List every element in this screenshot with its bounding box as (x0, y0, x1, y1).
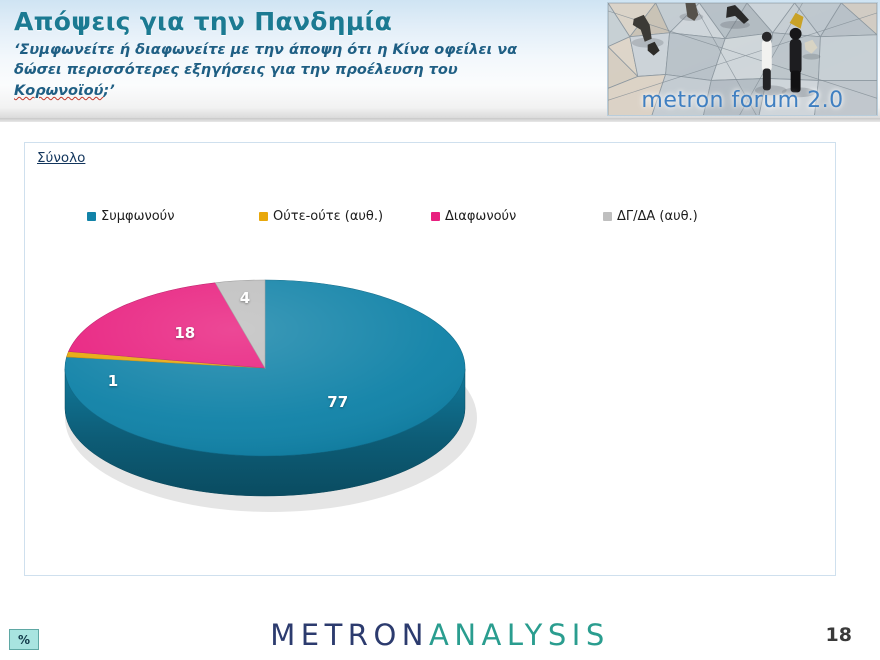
page-subtitle: ‘Συμφωνείτε ή διαφωνείτε με την άποψη ότ… (14, 40, 574, 102)
title-block: Απόψεις για την Πανδημία ‘Συμφωνείτε ή δ… (14, 8, 594, 101)
legend-item-0[interactable]: Συμφωνούν (87, 209, 259, 224)
page-title: Απόψεις για την Πανδημία (14, 8, 594, 37)
panel-label: Σύνολο (37, 150, 85, 166)
legend-label-0: Συμφωνούν (101, 209, 174, 224)
header-divider (0, 118, 880, 122)
photo-caption: metron forum 2.0 (608, 88, 877, 113)
subtitle-line-3-tail: ;’ (103, 83, 114, 99)
chart-panel: Σύνολο Συμφωνούν Ούτε-ούτε (αυθ.) Διαφων… (24, 142, 836, 576)
legend-label-2: Διαφωνούν (445, 209, 516, 224)
legend-item-1[interactable]: Ούτε-ούτε (αυθ.) (259, 209, 431, 224)
subtitle-line-2: δώσει περισσότερες εξηγήσεις για την προ… (14, 62, 458, 78)
brand-metron: METRON (270, 618, 429, 652)
subtitle-line-1: ‘Συμφωνείτε ή διαφωνείτε με την άποψη ότ… (14, 42, 517, 58)
legend-label-1: Ούτε-ούτε (αυθ.) (273, 209, 383, 224)
legend-label-3: ΔΓ/ΔΑ (αυθ.) (617, 209, 698, 224)
pie-chart-svg (25, 233, 837, 573)
brand-analysis: ANALYSIS (429, 618, 610, 652)
subtitle-line-3-keyword: Κορωνοϊού (14, 83, 103, 99)
legend-swatch-icon-1 (259, 212, 268, 221)
legend-swatch-icon-2 (431, 212, 440, 221)
chart-legend: Συμφωνούν Ούτε-ούτε (αυθ.) Διαφωνούν ΔΓ/… (25, 203, 837, 229)
legend-swatch-icon-3 (603, 212, 612, 221)
slide: Απόψεις για την Πανδημία ‘Συμφωνείτε ή δ… (0, 0, 880, 660)
legend-swatch-icon-0 (87, 212, 96, 221)
brand-logo: METRONANALYSIS (0, 618, 880, 652)
legend-item-3[interactable]: ΔΓ/ΔΑ (αυθ.) (603, 209, 775, 224)
page-number: 18 (826, 624, 852, 646)
legend-item-2[interactable]: Διαφωνούν (431, 209, 603, 224)
pie-chart: 77 1 18 4 (25, 233, 837, 573)
header-photo: metron forum 2.0 (607, 2, 878, 116)
